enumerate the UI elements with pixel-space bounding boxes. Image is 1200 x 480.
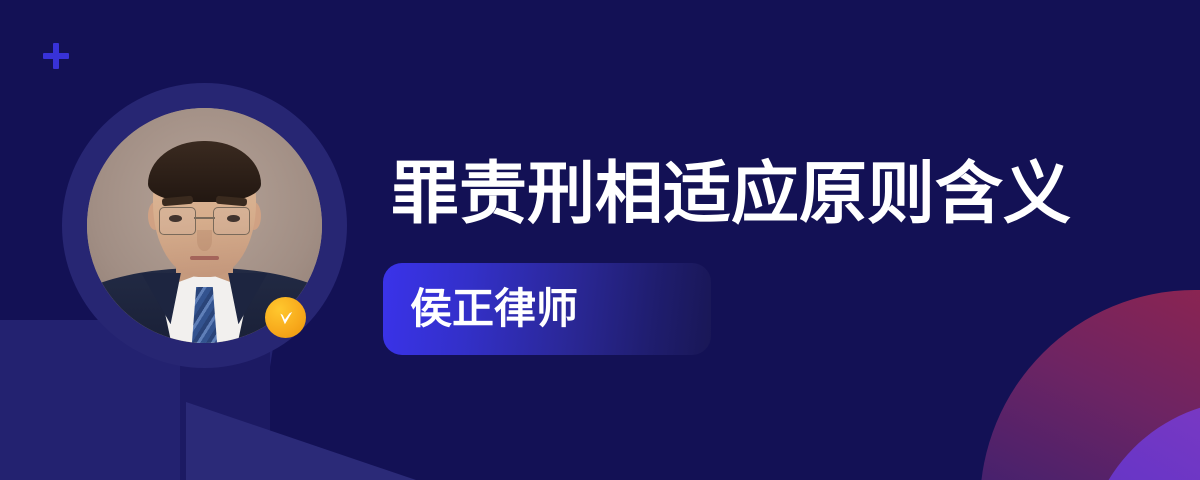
plus-icon: [43, 43, 69, 69]
page-title: 罪责刑相适应原则含义: [391, 160, 1071, 228]
verified-badge-icon: [265, 297, 306, 338]
avatar[interactable]: [62, 83, 347, 368]
author-badge[interactable]: 侯正律师: [383, 263, 711, 355]
author-name-label: 侯正律师: [410, 288, 578, 330]
banner-card: 罪责刑相适应原则含义 侯正律师: [0, 0, 1200, 480]
angular-triangle: [186, 402, 416, 480]
gradient-bloom-outer: [980, 290, 1200, 480]
gradient-bloom-inner: [1085, 400, 1200, 480]
